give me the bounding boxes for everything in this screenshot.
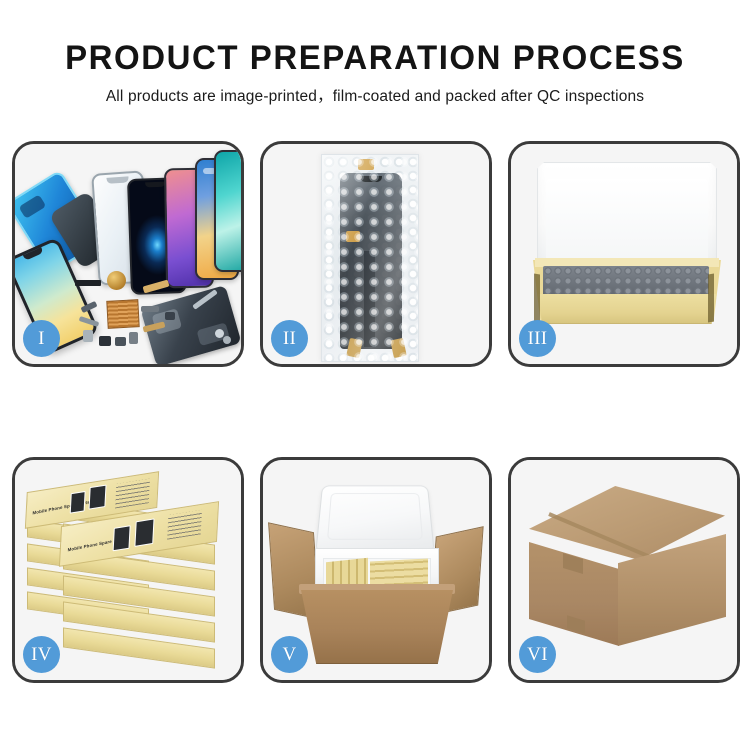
teal-phone-image — [214, 150, 244, 272]
box-left-edge-image — [534, 273, 540, 322]
black-bar-component-image — [75, 280, 101, 286]
page-subtitle: All products are image-printed，film-coat… — [0, 87, 750, 107]
step-badge-1: I — [23, 320, 60, 357]
spare-part-image — [129, 332, 138, 344]
process-step-grid: I II — [12, 141, 740, 683]
box-spec-lines — [167, 510, 202, 540]
box-right-edge-image — [708, 273, 714, 322]
circuit-board-image — [106, 299, 139, 329]
gold-component-image — [107, 271, 126, 290]
spare-part-image — [115, 337, 126, 346]
product-preparation-infographic: PRODUCT PREPARATION PROCESS All products… — [0, 0, 750, 750]
header: PRODUCT PREPARATION PROCESS All products… — [0, 0, 750, 107]
step-badge-4: IV — [23, 636, 60, 673]
process-step-panel-5: V — [260, 457, 492, 683]
step-badge-6: VI — [519, 636, 556, 673]
process-step-panel-1: I — [12, 141, 244, 367]
process-step-panel-6: VI — [508, 457, 740, 683]
spare-part-image — [99, 336, 111, 346]
process-step-panel-2: II — [260, 141, 492, 367]
spare-part-image — [141, 306, 159, 312]
page-title: PRODUCT PREPARATION PROCESS — [11, 38, 739, 78]
step-badge-3: III — [519, 320, 556, 357]
carton-body-image — [301, 590, 453, 664]
spare-part-image — [83, 330, 93, 342]
box-artwork-thumbnail — [113, 525, 131, 551]
box-front-panel-image — [537, 294, 717, 324]
process-step-panel-4: Mobile Phone Spare Parts Mobile Phone Sp… — [12, 457, 244, 683]
step-badge-2: II — [271, 320, 308, 357]
plastic-sheen-overlay — [322, 155, 418, 361]
process-step-panel-3: III — [508, 141, 740, 367]
spare-part-image — [223, 336, 231, 344]
spare-part-image — [215, 329, 224, 338]
bubble-wrap-bag-image — [321, 154, 419, 362]
box-artwork-thumbnail — [134, 518, 154, 546]
spare-part-image — [165, 312, 175, 320]
box-artwork-thumbnail — [70, 491, 86, 514]
box-artwork-thumbnail — [89, 485, 107, 510]
foam-case-lid-image — [316, 485, 435, 550]
box-spec-lines — [115, 479, 150, 509]
step-badge-5: V — [271, 636, 308, 673]
